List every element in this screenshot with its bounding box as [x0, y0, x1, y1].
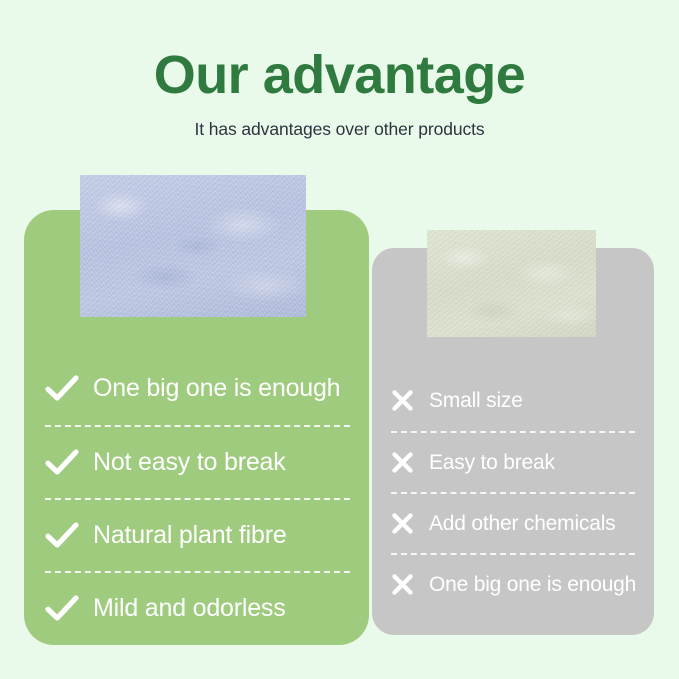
list-item-label: Natural plant fibre	[93, 521, 287, 550]
list-item-label: Small size	[429, 389, 523, 413]
list-item-label: Easy to break	[429, 451, 555, 475]
check-icon	[45, 375, 79, 402]
list-item: Natural plant fibre	[45, 498, 350, 571]
list-item: Easy to break	[391, 431, 635, 492]
advantage-comparison-graphic: Our advantage It has advantages over oth…	[0, 0, 679, 679]
list-item: Mild and odorless	[45, 571, 350, 644]
cross-icon	[391, 451, 417, 474]
cross-icon	[391, 573, 417, 596]
list-item-label: Not easy to break	[93, 448, 286, 477]
cross-icon	[391, 512, 417, 535]
list-item: Add other chemicals	[391, 492, 635, 553]
disadvantage-list: Small size Easy to break Add other chemi…	[391, 370, 635, 614]
cross-icon	[391, 389, 417, 412]
list-item: One big one is enough	[391, 553, 635, 614]
header: Our advantage It has advantages over oth…	[0, 0, 679, 140]
check-icon	[45, 595, 79, 622]
list-item-label: Add other chemicals	[429, 512, 615, 536]
list-item: One big one is enough	[45, 352, 350, 425]
beige-cloth-photo	[427, 230, 596, 337]
check-icon	[45, 449, 79, 476]
list-item: Small size	[391, 370, 635, 431]
page-subtitle: It has advantages over other products	[0, 104, 679, 140]
list-item-label: One big one is enough	[429, 573, 636, 597]
advantage-list: One big one is enough Not easy to break …	[45, 352, 350, 644]
check-icon	[45, 522, 79, 549]
page-title: Our advantage	[0, 0, 679, 104]
list-item: Not easy to break	[45, 425, 350, 498]
list-item-label: Mild and odorless	[93, 594, 286, 623]
blue-cloth-photo	[80, 175, 306, 317]
list-item-label: One big one is enough	[93, 374, 340, 403]
